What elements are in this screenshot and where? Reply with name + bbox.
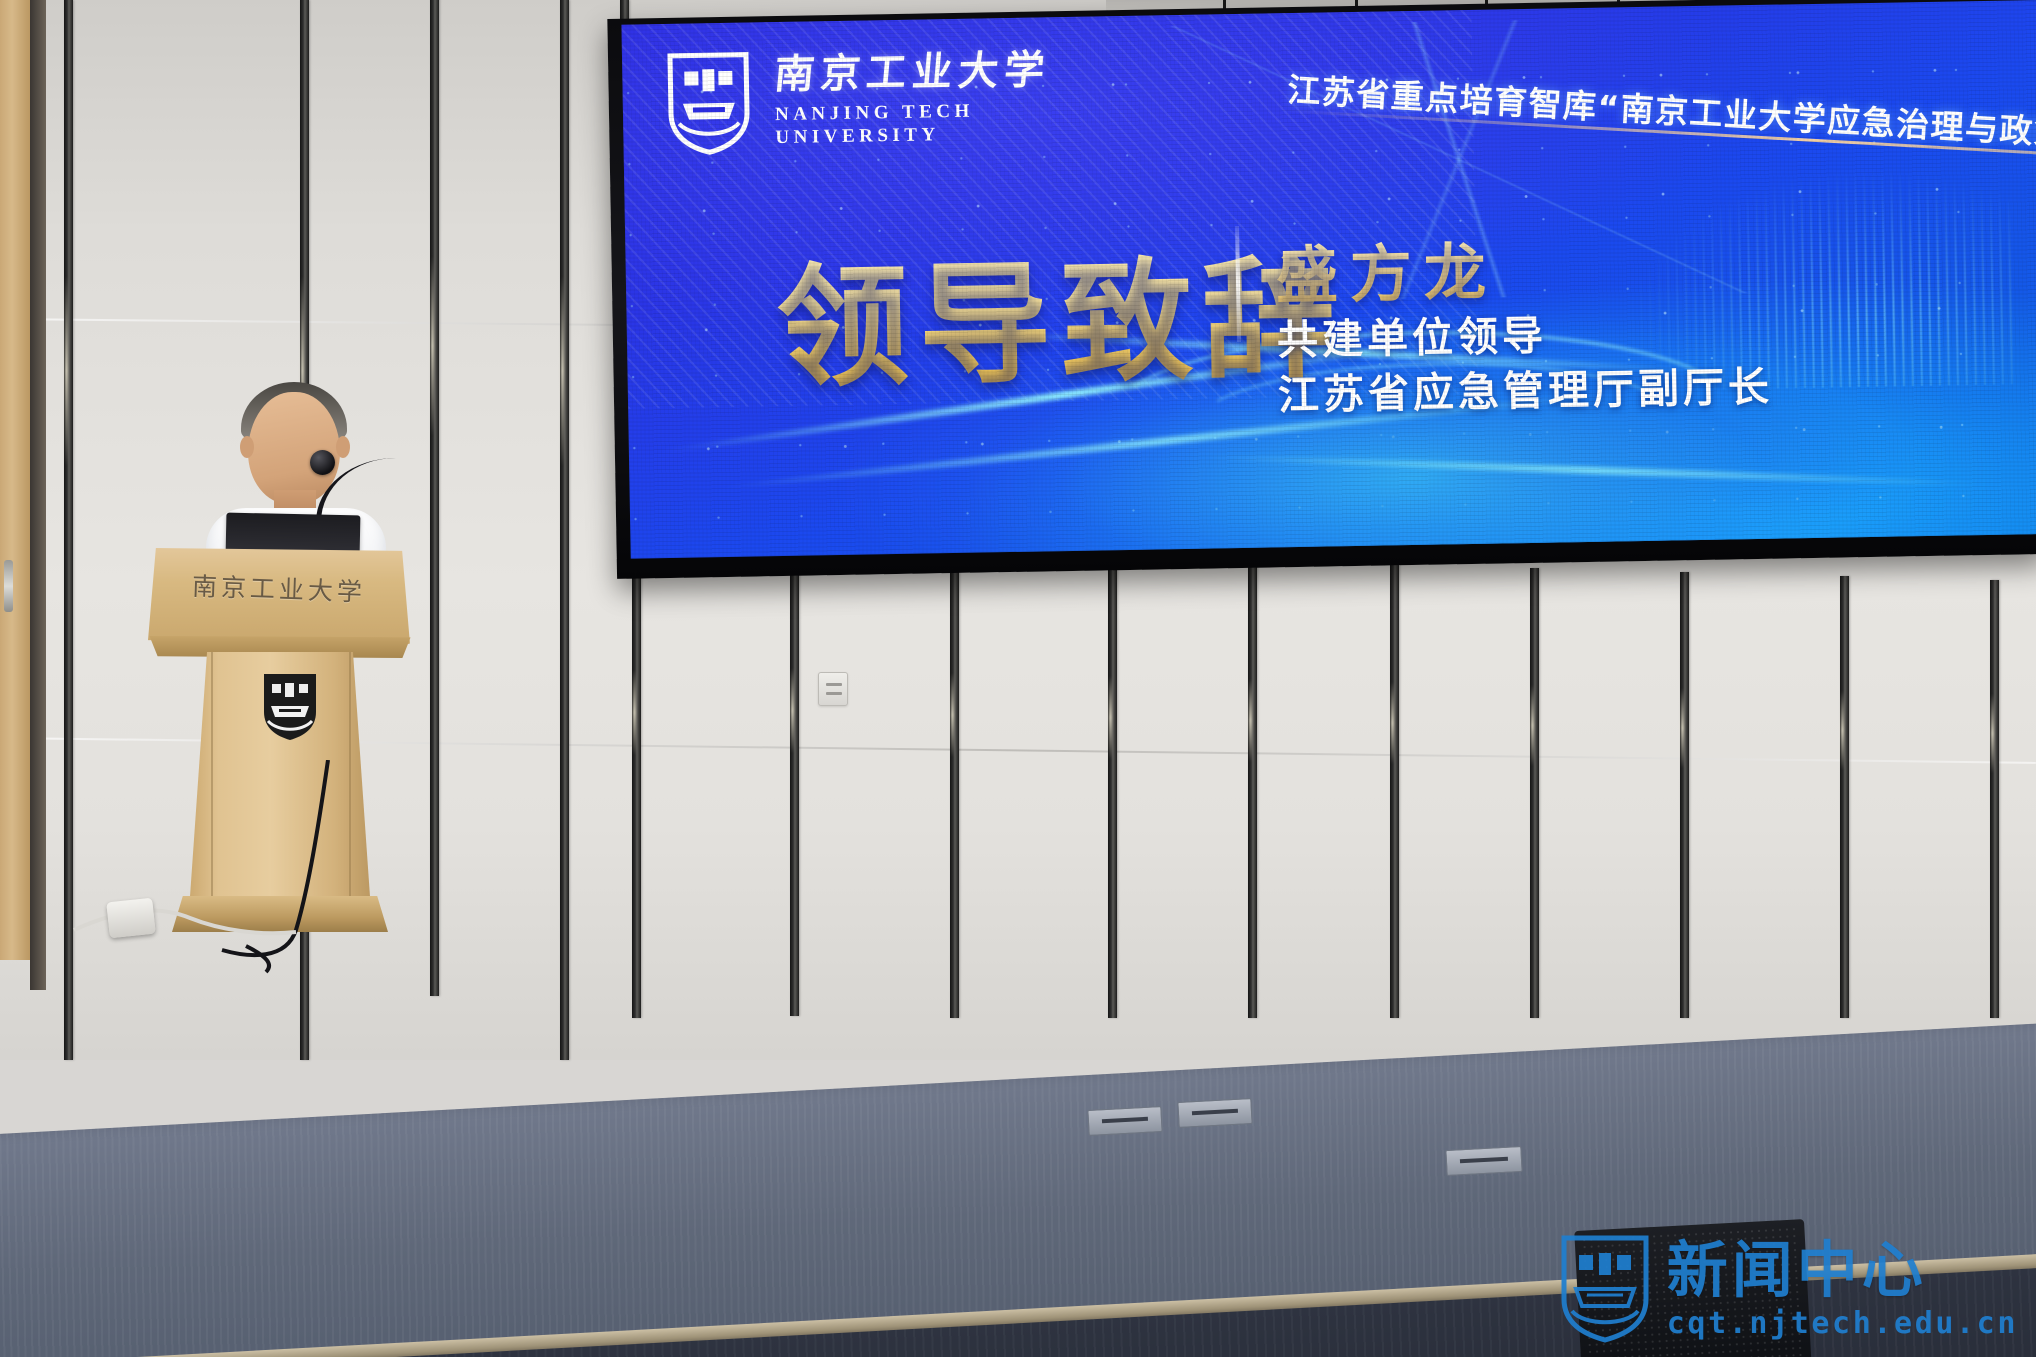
njtech-shield-icon bbox=[664, 50, 754, 156]
speaker-affiliation-line1: 共建单位领导 bbox=[1277, 305, 1773, 369]
floor-power-strip[interactable] bbox=[106, 898, 156, 939]
photo-scene: 南京工业大学 NANJING TECH UNIVERSITY 江苏省重点培育智库… bbox=[0, 0, 2036, 1357]
wall-power-socket[interactable] bbox=[818, 672, 848, 706]
lectern: 南京工业大学 bbox=[148, 548, 408, 928]
watermark-url: cqt.njtech.edu.cn bbox=[1667, 1309, 2018, 1339]
floor-outlet-hatch[interactable] bbox=[1177, 1098, 1252, 1128]
watermark-label: 新闻中心 bbox=[1667, 1240, 2018, 1301]
wall-mullion bbox=[1530, 568, 1539, 1018]
lectern-top: 南京工业大学 bbox=[148, 548, 410, 644]
njtech-shield-icon bbox=[1559, 1235, 1651, 1343]
lectern-engraved-text: 南京工业大学 bbox=[191, 567, 372, 609]
floor-outlet-hatch[interactable] bbox=[1445, 1146, 1522, 1176]
wall-mullion bbox=[1248, 560, 1257, 1018]
university-logo-lockup: 南京工业大学 NANJING TECH UNIVERSITY bbox=[664, 45, 1052, 156]
university-name-en-line2: UNIVERSITY bbox=[775, 122, 1051, 149]
wall-mullion bbox=[1680, 572, 1689, 1018]
wall-mullion bbox=[1990, 580, 1999, 1018]
door-frame bbox=[30, 0, 46, 990]
speaker-name: 盛方龙 bbox=[1275, 222, 1499, 316]
wall-mullion bbox=[1108, 556, 1117, 1018]
slide-headline: 领导致辞 bbox=[775, 212, 1346, 413]
university-name-cn: 南京工业大学 bbox=[773, 50, 1052, 95]
led-screen-surface: 南京工业大学 NANJING TECH UNIVERSITY 江苏省重点培育智库… bbox=[621, 0, 2036, 559]
wall-mullion bbox=[64, 0, 73, 1060]
lectern-base bbox=[172, 896, 388, 932]
person-ear-right bbox=[336, 436, 350, 458]
wall-mullion bbox=[790, 546, 799, 1016]
person-ear-left bbox=[240, 436, 254, 458]
door-handle[interactable] bbox=[4, 560, 13, 612]
floor-outlet-hatch[interactable] bbox=[1087, 1106, 1162, 1136]
njtech-shield-icon bbox=[261, 672, 319, 742]
wall-mullion bbox=[1840, 576, 1849, 1018]
speaker-affiliation-line2: 江苏省应急管理厅副厅长 bbox=[1278, 360, 1774, 424]
speaker-affiliation: 共建单位领导 江苏省应急管理厅副厅长 bbox=[1277, 305, 1774, 424]
news-center-watermark: 新闻中心 cqt.njtech.edu.cn bbox=[1559, 1235, 2018, 1343]
mic-capsule bbox=[310, 450, 335, 475]
led-display: 南京工业大学 NANJING TECH UNIVERSITY 江苏省重点培育智库… bbox=[607, 0, 2036, 579]
side-door[interactable] bbox=[0, 0, 34, 960]
wall-mullion bbox=[950, 552, 959, 1018]
wall-mullion bbox=[632, 548, 641, 1018]
wall-mullion bbox=[1390, 564, 1399, 1018]
wall-mullion bbox=[560, 0, 569, 1060]
